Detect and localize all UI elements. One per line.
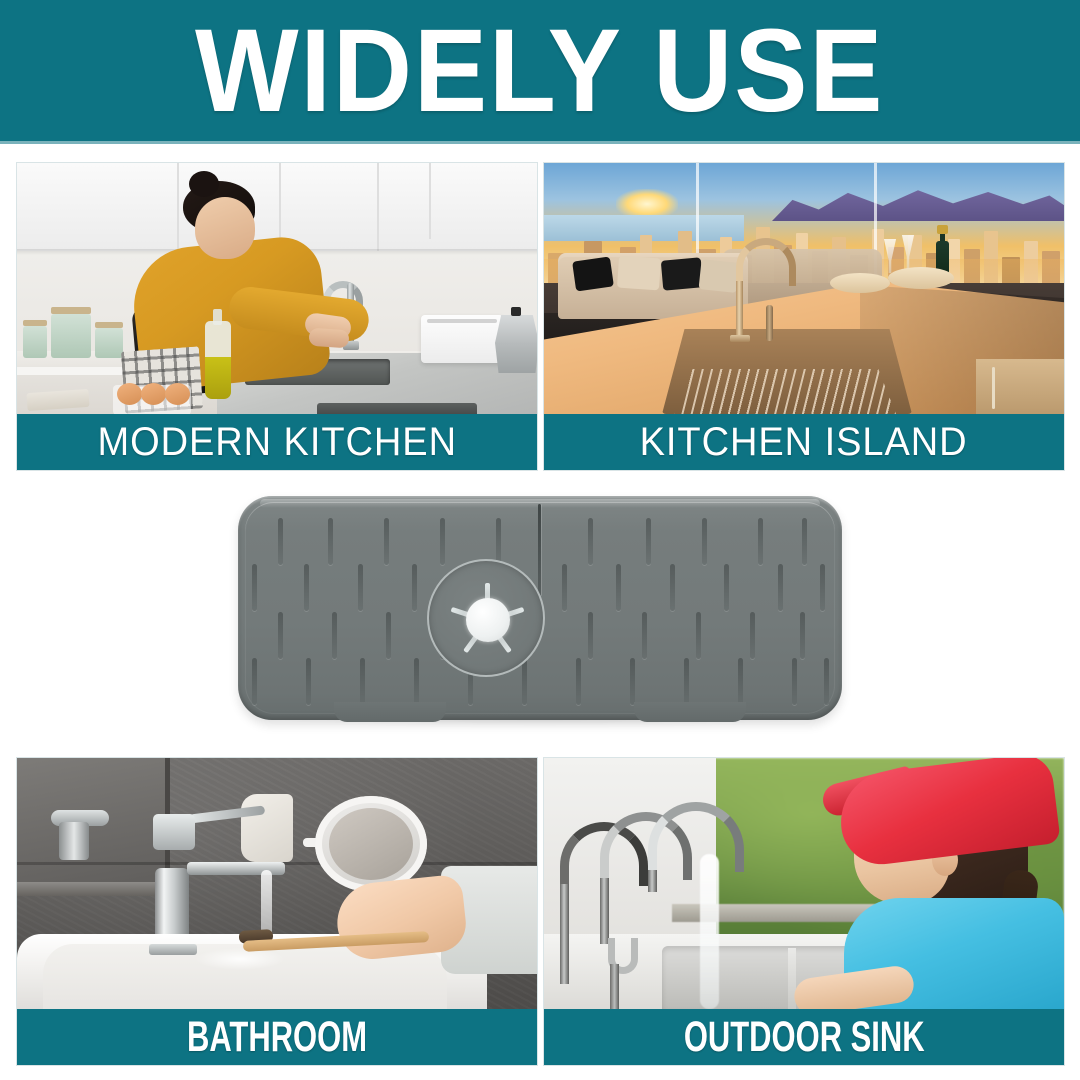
drain-groove: [522, 658, 527, 705]
faucet-base: [730, 335, 750, 342]
drain-groove: [738, 658, 743, 705]
faucet-head: [153, 814, 195, 850]
mat-bottom-tab: [334, 702, 446, 722]
drain-groove: [588, 518, 593, 565]
drain-groove: [358, 564, 363, 611]
photo-bathroom: [17, 758, 537, 1009]
drain-groove: [724, 564, 729, 611]
woman-head: [195, 197, 255, 259]
drain-groove: [758, 518, 763, 565]
drain-groove: [702, 518, 707, 565]
drain-groove: [386, 612, 391, 659]
water-stream: [700, 854, 719, 1009]
cabinet-seam: [177, 163, 179, 251]
caption-bar: OUTDOOR SINK: [544, 1009, 1064, 1065]
mat-bottom-tab: [634, 702, 746, 722]
serving-tray: [830, 273, 890, 293]
moka-pot-knob: [511, 307, 521, 316]
drain-groove: [278, 518, 283, 565]
folded-towel: [241, 794, 293, 862]
cabinet-handle: [992, 367, 995, 409]
drain-groove: [802, 518, 807, 565]
caption-label: BATHROOM: [187, 1016, 367, 1059]
drain-groove: [332, 612, 337, 659]
panel-kitchen-island[interactable]: KITCHEN ISLAND: [544, 163, 1064, 470]
sink-basin-front: [317, 403, 477, 414]
drain-groove: [278, 612, 283, 659]
egg: [141, 383, 166, 405]
water-splash: [195, 948, 285, 970]
drain-groove: [750, 612, 755, 659]
moka-pot: [495, 315, 537, 373]
soap-dispenser: [766, 305, 773, 341]
drain-groove: [576, 658, 581, 705]
caption-label: KITCHEN ISLAND: [640, 422, 968, 462]
drain-groove: [440, 518, 445, 565]
drain-groove: [496, 518, 501, 565]
egg: [117, 383, 142, 405]
drain-groove: [778, 564, 783, 611]
glass-jar: [51, 314, 91, 358]
caption-label: OUTDOOR SINK: [684, 1016, 925, 1059]
island-cabinet: [976, 359, 1064, 414]
photo-kitchen-island: [544, 163, 1064, 414]
cabinet-seam: [429, 163, 431, 239]
faucet-column-front: [648, 870, 657, 892]
product-image-faucet-mat: [238, 496, 842, 728]
hair-bun: [189, 171, 219, 197]
drain-groove: [642, 612, 647, 659]
jar-lid: [51, 307, 91, 314]
photo-modern-kitchen: [17, 163, 537, 414]
egg: [165, 383, 190, 405]
mirrored-faucet-body: [59, 822, 89, 860]
header-divider: [0, 141, 1080, 144]
drain-groove: [820, 564, 825, 611]
drain-groove: [824, 658, 829, 705]
drain-groove: [588, 612, 593, 659]
drain-groove: [646, 518, 651, 565]
throw-pillow: [661, 257, 703, 290]
panel-modern-kitchen[interactable]: MODERN KITCHEN: [17, 163, 537, 470]
drain-groove: [696, 612, 701, 659]
drain-groove: [630, 658, 635, 705]
drain-groove: [800, 612, 805, 659]
photo-outdoor-sink: [544, 758, 1064, 1009]
drain-groove: [306, 658, 311, 705]
drain-groove: [384, 518, 389, 565]
cabinet-seam: [377, 163, 379, 251]
header-banner: WIDELY USE: [0, 0, 1080, 141]
sink-grid: [674, 369, 896, 414]
woman-hand: [308, 328, 349, 349]
drain-center-hub: [466, 598, 510, 642]
drain-groove: [304, 564, 309, 611]
spice-jar: [23, 326, 47, 358]
mat-top-slit: [538, 504, 541, 596]
page-title: WIDELY USE: [195, 12, 884, 130]
drain-groove: [412, 564, 417, 611]
mirror-ledge: [17, 882, 175, 896]
drain-groove: [252, 564, 257, 611]
caption-label: MODERN KITCHEN: [97, 422, 457, 462]
drain-groove: [562, 564, 567, 611]
drain-groove: [670, 564, 675, 611]
drain-groove: [328, 518, 333, 565]
widely-use-poster: WIDELY USE: [0, 0, 1080, 1080]
faucet-base: [149, 944, 197, 955]
serving-tray: [888, 267, 954, 289]
center-drain-hole: [427, 559, 545, 677]
vanity-mirror-glass: [329, 808, 413, 880]
panel-bathroom[interactable]: BATHROOM: [17, 758, 537, 1065]
panel-outdoor-sink[interactable]: OUTDOOR SINK: [544, 758, 1064, 1065]
drain-groove: [252, 658, 257, 705]
jar-lid: [95, 322, 123, 328]
silicone-mat-body: [238, 496, 842, 720]
drain-groove: [792, 658, 797, 705]
drain-groove: [616, 564, 621, 611]
olive-oil-bottle: [205, 321, 231, 399]
throw-pillow: [617, 256, 661, 291]
drain-groove: [414, 658, 419, 705]
spice-jar: [95, 328, 123, 358]
wine-bottle-cap: [937, 225, 948, 234]
faucet-column-rear: [560, 884, 569, 984]
faucet-pipe: [610, 964, 619, 1009]
toaster-slot: [427, 319, 497, 323]
drain-groove: [684, 658, 689, 705]
throw-pillow: [699, 259, 740, 293]
caption-bar: KITCHEN ISLAND: [544, 414, 1064, 470]
faucet-column: [736, 281, 743, 339]
throw-pillow: [572, 257, 614, 292]
jar-lid: [23, 320, 47, 326]
drain-groove: [360, 658, 365, 705]
faucet-column-mid: [600, 878, 609, 944]
caption-bar: BATHROOM: [17, 1009, 537, 1065]
caption-bar: MODERN KITCHEN: [17, 414, 537, 470]
